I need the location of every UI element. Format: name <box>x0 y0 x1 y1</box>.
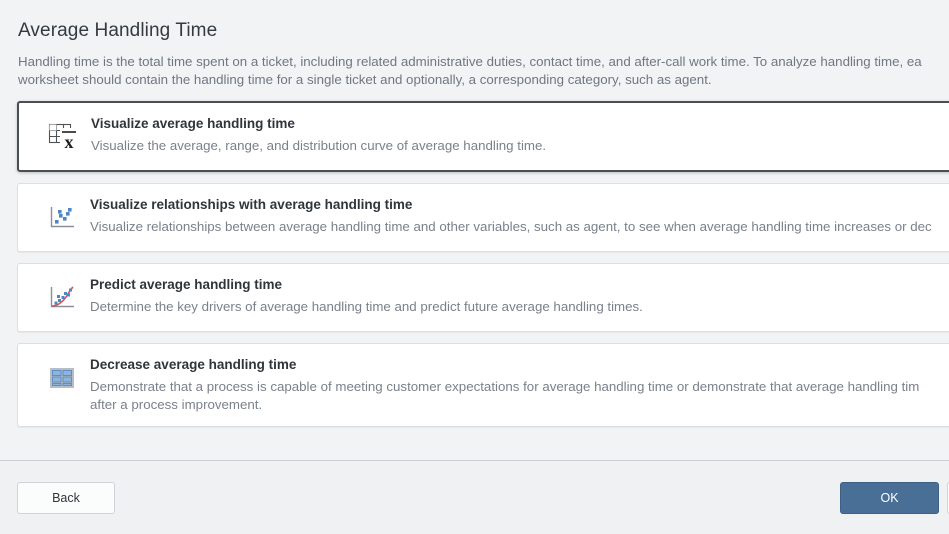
page-description-line-1: Handling time is the total time spent on… <box>18 54 922 69</box>
card-title: Visualize relationships with average han… <box>90 195 949 214</box>
scatter-plot-icon <box>34 196 90 240</box>
dialog-header: Average Handling Time Handling time is t… <box>0 0 949 89</box>
card-description-line-1: Demonstrate that a process is capable of… <box>90 379 919 394</box>
card-description: Visualize the average, range, and distri… <box>91 137 949 155</box>
card-body: Visualize average handling time Visualiz… <box>91 113 949 155</box>
ok-button[interactable]: OK <box>840 482 939 514</box>
card-description-line-2: after a process improvement. <box>90 396 949 414</box>
dialog-footer: Back OK Cancel <box>0 460 949 534</box>
page-description-line-2: worksheet should contain the handling ti… <box>18 71 931 89</box>
fitted-line-plot-icon <box>34 276 90 320</box>
option-card-predict-average-handling-time[interactable]: Predict average handling time Determine … <box>17 263 949 332</box>
card-body: Decrease average handling time Demonstra… <box>90 354 949 414</box>
card-description-line-1: Visualize relationships between average … <box>90 219 932 234</box>
svg-text:x: x <box>65 132 74 152</box>
card-body: Visualize relationships with average han… <box>90 194 949 236</box>
page-title: Average Handling Time <box>18 18 931 44</box>
blue-grid-icon <box>34 356 90 400</box>
card-title: Predict average handling time <box>90 275 949 294</box>
page-description: Handling time is the total time spent on… <box>18 53 931 89</box>
card-description: Demonstrate that a process is capable of… <box>90 378 949 414</box>
card-title: Visualize average handling time <box>91 114 949 133</box>
option-card-list: x Visualize average handling time Visual… <box>0 89 949 460</box>
card-description: Visualize relationships between average … <box>90 218 949 236</box>
card-description-line-1: Visualize the average, range, and distri… <box>91 138 546 153</box>
option-card-decrease-average-handling-time[interactable]: Decrease average handling time Demonstra… <box>17 343 949 427</box>
option-card-visualize-relationships[interactable]: Visualize relationships with average han… <box>17 183 949 252</box>
average-handling-time-dialog: Average Handling Time Handling time is t… <box>0 0 949 534</box>
card-description: Determine the key drivers of average han… <box>90 298 949 316</box>
option-card-visualize-average-handling-time[interactable]: x Visualize average handling time Visual… <box>17 101 949 172</box>
card-title: Decrease average handling time <box>90 355 949 374</box>
back-button[interactable]: Back <box>17 482 115 514</box>
card-description-line-1: Determine the key drivers of average han… <box>90 299 643 314</box>
table-xbar-icon: x <box>35 115 91 159</box>
card-body: Predict average handling time Determine … <box>90 274 949 316</box>
